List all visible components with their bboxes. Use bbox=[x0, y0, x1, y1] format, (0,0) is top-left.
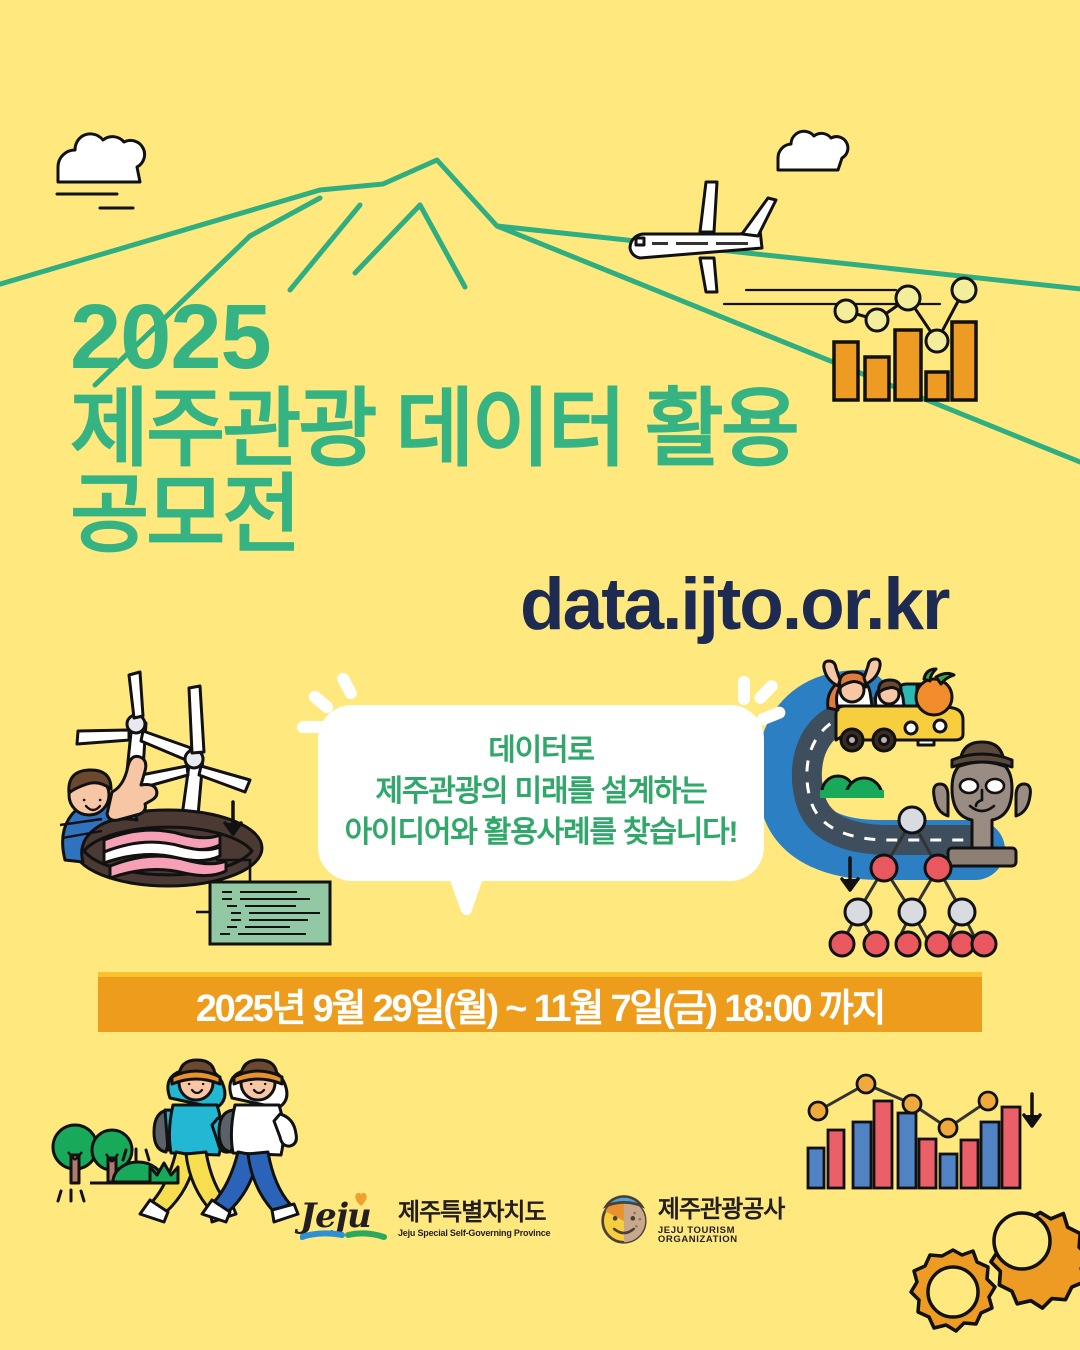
cloud-shadow-line bbox=[57, 194, 133, 208]
jeju-tourism-organization-logo: 제주관광공사 JEJU TOURISM ORGANIZATION bbox=[600, 1194, 800, 1248]
bubble-line-2: 제주관광의 미래를 설계하는 bbox=[336, 772, 746, 813]
date-banner: 2025년 9월 29일(월) ~ 11월 7일(금) 18:00 까지 bbox=[98, 972, 982, 1032]
title-line-2: 공모전 bbox=[70, 467, 298, 563]
poster-canvas: 2025 제주관광 데이터 활용공모전 data.ijto.or.kr 데이터로… bbox=[0, 0, 1080, 1350]
poster-year: 2025 bbox=[70, 295, 1030, 380]
title-line-1: 제주관광 데이터 활용 bbox=[70, 381, 797, 477]
bubble-line-1: 데이터로 bbox=[336, 731, 746, 772]
logo-strip: Jeju 제주특별자치도 Jeju Special Self-Governing… bbox=[300, 1192, 800, 1264]
jeju-logo-english: Jeju Special Self-Governing Province bbox=[398, 1229, 550, 1238]
site-url-link[interactable]: data.ijto.or.kr bbox=[520, 563, 948, 646]
green-code-document-icon bbox=[210, 882, 330, 944]
tangerine-icon bbox=[916, 669, 954, 715]
page-title: 제주관광 데이터 활용공모전 bbox=[70, 386, 1030, 558]
date-banner-text: 2025년 9월 29일(월) ~ 11월 7일(금) 18:00 까지 bbox=[196, 977, 885, 1032]
airplane-icon bbox=[630, 182, 776, 292]
car-passengers-icon bbox=[824, 659, 904, 710]
jeju-logo-korean: 제주특별자치도 bbox=[398, 1201, 550, 1225]
speech-bubble-tail bbox=[437, 855, 495, 915]
jto-face-icon bbox=[600, 1194, 648, 1248]
airplane-window-dots bbox=[652, 242, 748, 245]
jto-logo-korean: 제주관광공사 bbox=[658, 1198, 800, 1222]
gear-icon bbox=[911, 1213, 1080, 1332]
blue-red-bar-line-chart-icon bbox=[808, 1075, 1020, 1188]
title-block: 2025 제주관광 데이터 활용공모전 bbox=[70, 295, 1030, 558]
two-hikers-icon bbox=[140, 1060, 298, 1222]
jeju-underline-icon bbox=[300, 1230, 388, 1242]
jeju-heart-icon bbox=[352, 1190, 370, 1208]
jeju-province-logo: Jeju 제주특별자치도 Jeju Special Self-Governing… bbox=[300, 1196, 550, 1242]
speech-bubble: 데이터로 제주관광의 미래를 설계하는 아이디어와 활용사례를 찾습니다! bbox=[318, 705, 764, 881]
bubble-line-3: 아이디어와 활용사례를 찾습니다! bbox=[336, 813, 746, 854]
down-arrow-icon-bottom bbox=[1024, 1094, 1040, 1126]
jto-logo-english: JEJU TOURISM ORGANIZATION bbox=[658, 1226, 800, 1245]
roadside-bush-icon bbox=[820, 776, 884, 798]
illustration-layer bbox=[0, 0, 1080, 1350]
